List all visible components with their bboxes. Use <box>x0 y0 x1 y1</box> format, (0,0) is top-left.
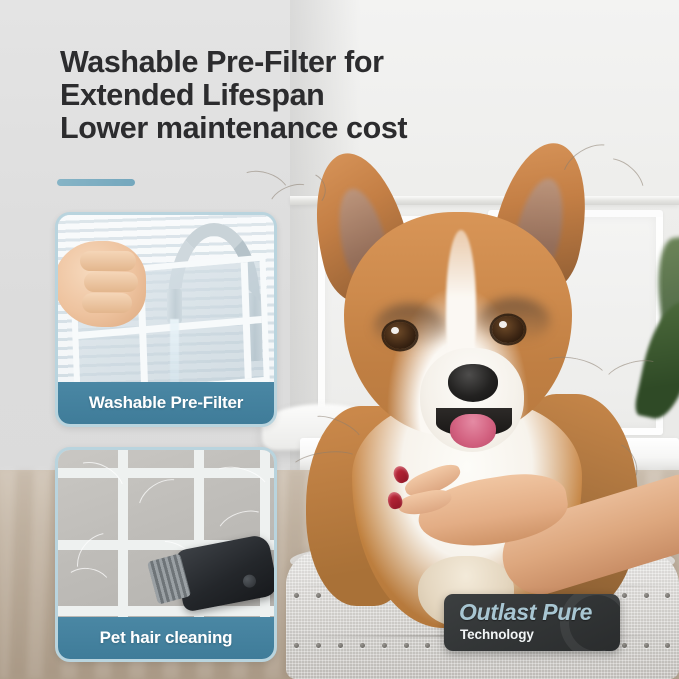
headline-line-2: Extended Lifespan <box>60 79 530 112</box>
hand-holding-filter <box>58 241 146 327</box>
accent-divider <box>57 179 135 186</box>
headline-line-3: Lower maintenance cost <box>60 112 530 145</box>
card-1-caption: Washable Pre-Filter <box>58 382 274 424</box>
product-feature-image: Washable Pre-Filter for Extended Lifespa… <box>0 0 679 679</box>
card-2-caption: Pet hair cleaning <box>58 617 274 659</box>
card-2-photo <box>58 450 274 617</box>
dog-tongue <box>450 414 496 448</box>
dog-nose <box>448 364 498 402</box>
pet-hair-strand <box>232 164 294 213</box>
dog-head <box>344 212 572 436</box>
brand-badge: Outlast Pure Technology <box>444 594 620 651</box>
dog-eye-right <box>492 316 524 343</box>
badge-subtitle: Technology <box>460 627 534 642</box>
feature-card-washable-pre-filter[interactable]: Washable Pre-Filter <box>55 212 277 427</box>
brush-button <box>242 574 257 589</box>
headline-line-1: Washable Pre-Filter for <box>60 46 530 79</box>
page-title: Washable Pre-Filter for Extended Lifespa… <box>60 46 530 145</box>
feature-card-pet-hair-cleaning[interactable]: Pet hair cleaning <box>55 447 277 662</box>
card-1-photo <box>58 215 274 382</box>
dog-eye-left <box>384 322 416 349</box>
badge-title: Outlast Pure <box>459 599 592 626</box>
water-stream <box>170 319 179 382</box>
